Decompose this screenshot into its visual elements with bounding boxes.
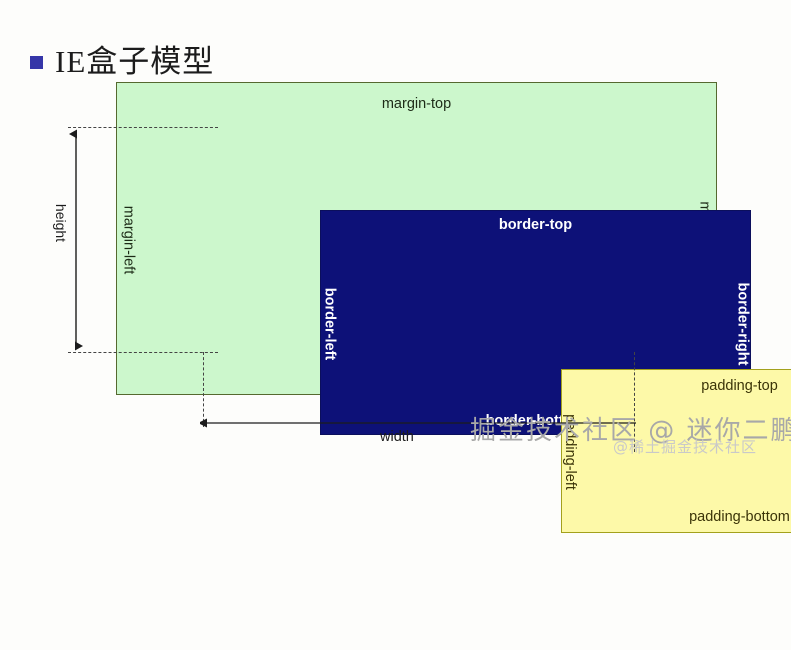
- ie-box-model-slide: { "slide": { "title": "IE盒子模型", "bullet_…: [0, 0, 791, 462]
- bullet-square-icon: [30, 56, 43, 69]
- margin-box: margin-top margin-bottom margin-left mar…: [116, 82, 717, 395]
- slide-title-row: IE盒子模型: [0, 18, 791, 66]
- guide-line-bottom: [68, 352, 218, 353]
- border-box: border-top border-bottom border-left bor…: [320, 210, 751, 435]
- label-border-left: border-left: [305, 211, 353, 436]
- label-margin-left: margin-left: [98, 83, 158, 396]
- label-height: height: [53, 204, 69, 242]
- guide-line-top: [68, 127, 218, 128]
- watermark-secondary: @稀土掘金技术社区: [613, 436, 757, 457]
- label-border-left-text: border-left: [321, 287, 337, 360]
- label-margin-left-text: margin-left: [120, 205, 136, 274]
- label-width: width: [380, 429, 414, 445]
- label-padding-left: padding-left: [540, 370, 600, 534]
- label-border-right-text: border-right: [734, 282, 750, 365]
- label-margin-top: margin-top: [117, 96, 716, 112]
- page-title: IE盒子模型: [55, 36, 214, 81]
- label-border-top: border-top: [321, 217, 750, 233]
